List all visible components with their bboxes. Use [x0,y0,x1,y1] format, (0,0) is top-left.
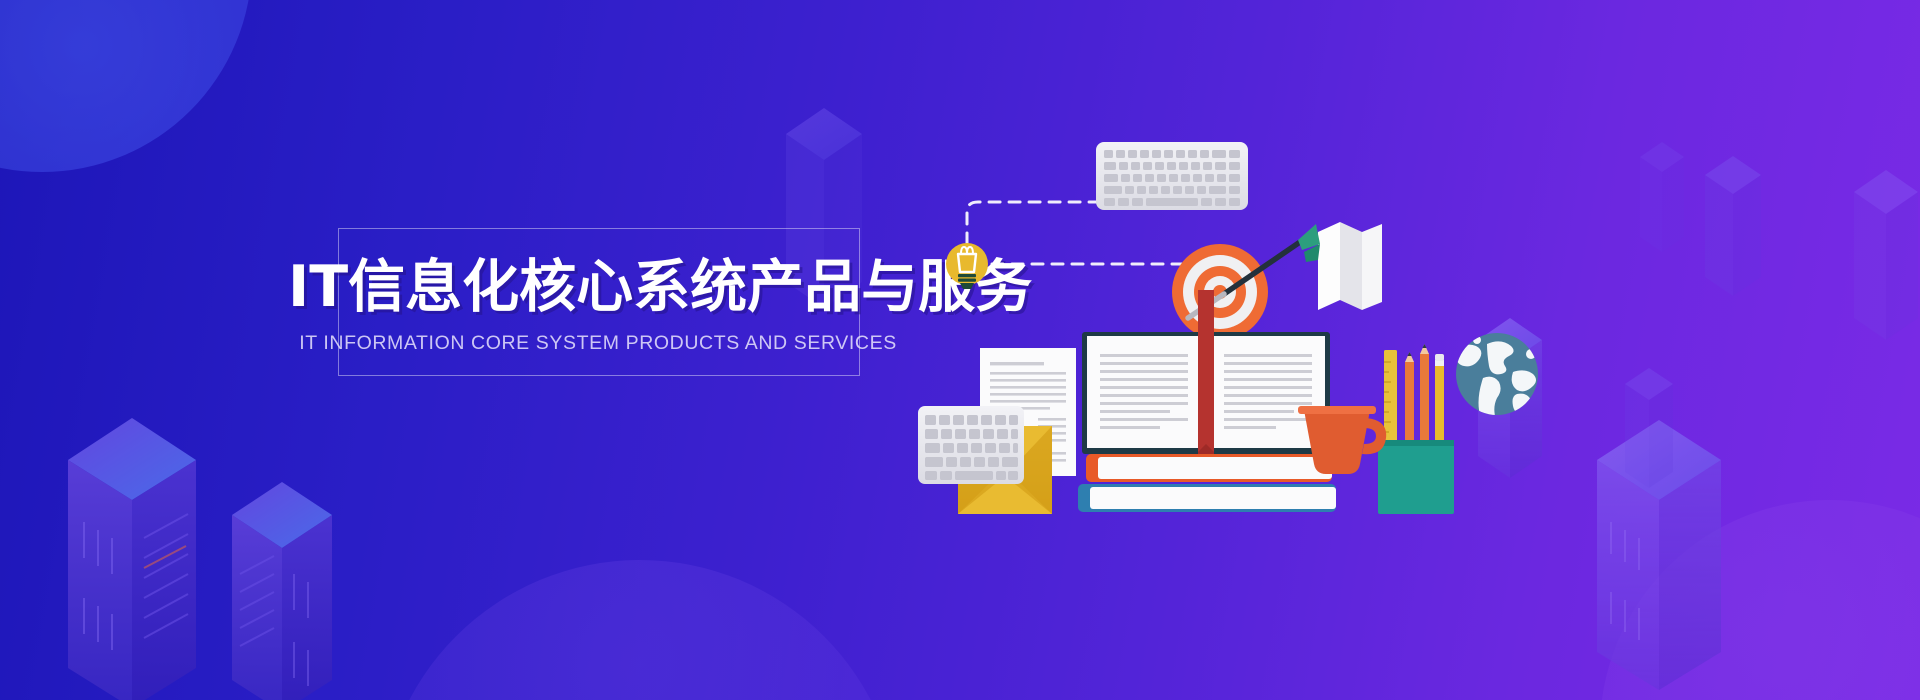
folded-map [1318,222,1382,310]
tower-right-e [1640,142,1686,252]
page-title: IT信息化核心系统产品与服务 [288,258,908,318]
tower-right-f [1854,170,1920,340]
circle-bottom-center [380,560,900,700]
lightbulb-icon [946,243,988,289]
bookmark-ribbon [1198,290,1214,462]
pencil-holder [1378,344,1454,514]
keyboard-top [1096,142,1248,210]
keyboard-bottom [918,406,1024,484]
circle-top-left [0,0,252,172]
tower-left-large [68,418,198,700]
tower-right-d [1625,368,1675,488]
it-services-hero-banner: IT信息化核心系统产品与服务 IT INFORMATION CORE SYSTE… [0,0,1920,700]
book-stack [1078,454,1336,512]
globe-icon [1456,333,1538,424]
page-subtitle: IT INFORMATION CORE SYSTEM PRODUCTS AND … [288,332,908,355]
dashed-connector-line [967,202,1200,264]
headline-block: IT信息化核心系统产品与服务 IT INFORMATION CORE SYSTE… [288,258,908,355]
tower-left-small [232,482,334,700]
it-office-desk-illustration [900,110,1600,490]
tower-right-c [1705,156,1763,296]
